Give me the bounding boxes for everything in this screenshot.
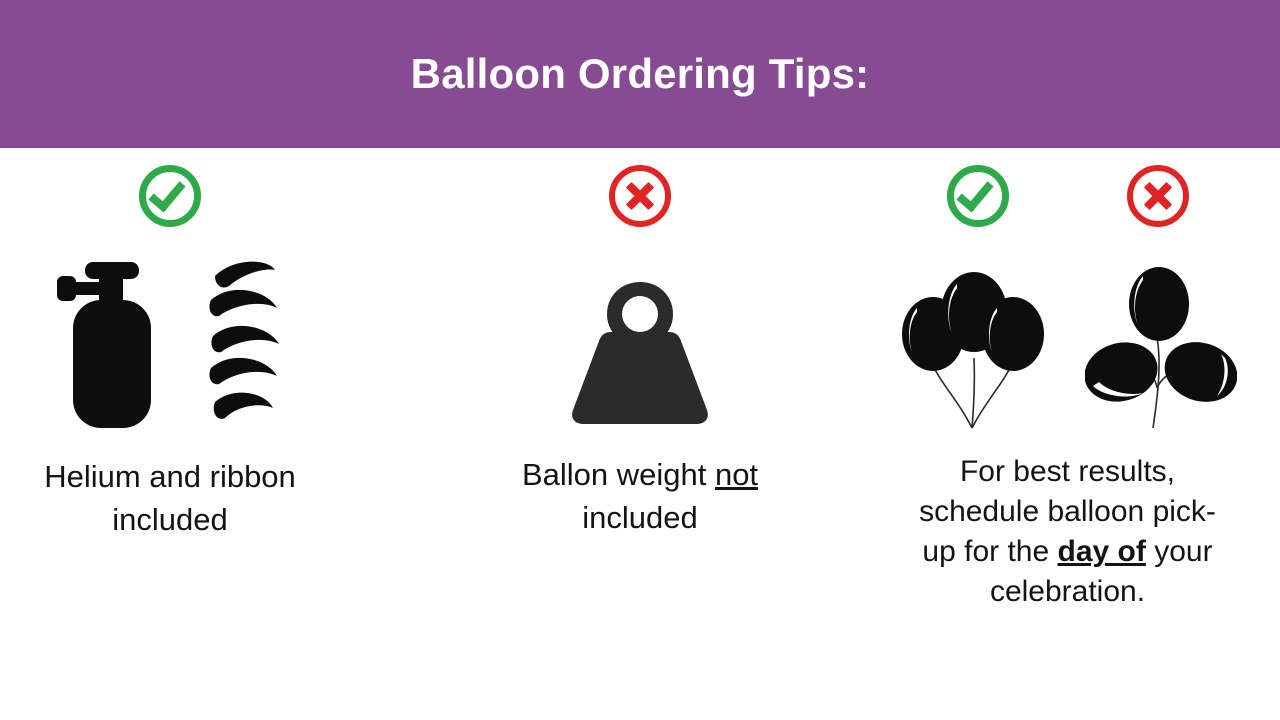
caption-line: Helium and ribbon xyxy=(6,456,334,499)
curled-ribbon-icon xyxy=(205,256,283,434)
caption-emphasis: not xyxy=(715,457,758,492)
caption-helium-ribbon: Helium and ribbonincluded xyxy=(0,456,340,542)
green-check-icon xyxy=(139,165,201,227)
green-check-icon xyxy=(947,165,1009,227)
check-tick-shape xyxy=(148,174,185,213)
caption-balloon-weight: Ballon weight notincluded xyxy=(440,454,840,540)
badge-row-pickup xyxy=(855,148,1280,244)
caption-line: For best results, xyxy=(861,452,1274,492)
icon-row-pickup xyxy=(855,244,1280,434)
balloon-weight-icon xyxy=(555,274,725,434)
caption-line: schedule balloon pick- xyxy=(861,492,1274,532)
icon-row-helium xyxy=(0,244,340,434)
inflated-balloons-icon xyxy=(899,262,1049,434)
red-x-icon xyxy=(609,165,671,227)
tips-body: Helium and ribbonincluded Ballon weight … xyxy=(0,148,1280,720)
icon-row-weight xyxy=(440,244,840,434)
caption-line: included xyxy=(6,499,334,542)
caption-line: celebration. xyxy=(861,572,1274,612)
caption-emphasis: day of xyxy=(1058,535,1146,568)
check-tick-shape xyxy=(956,174,993,213)
page-title: Balloon Ordering Tips: xyxy=(411,53,870,95)
header-band: Balloon Ordering Tips: xyxy=(0,0,1280,148)
caption-line: Ballon weight not xyxy=(446,454,834,497)
caption-line: included xyxy=(446,497,834,540)
red-x-icon xyxy=(1127,165,1189,227)
tip-column-pickup-timing: For best results,schedule balloon pick-u… xyxy=(855,148,1280,612)
tip-column-helium-ribbon: Helium and ribbonincluded xyxy=(0,148,340,542)
tip-column-balloon-weight: Ballon weight notincluded xyxy=(440,148,840,540)
badge-row-helium xyxy=(0,148,340,244)
badge-row-weight xyxy=(440,148,840,244)
caption-pickup-timing: For best results,schedule balloon pick-u… xyxy=(855,452,1280,612)
helium-tank-icon xyxy=(57,256,169,434)
deflated-balloons-icon xyxy=(1085,262,1237,434)
caption-line: up for the day of your xyxy=(861,532,1274,572)
